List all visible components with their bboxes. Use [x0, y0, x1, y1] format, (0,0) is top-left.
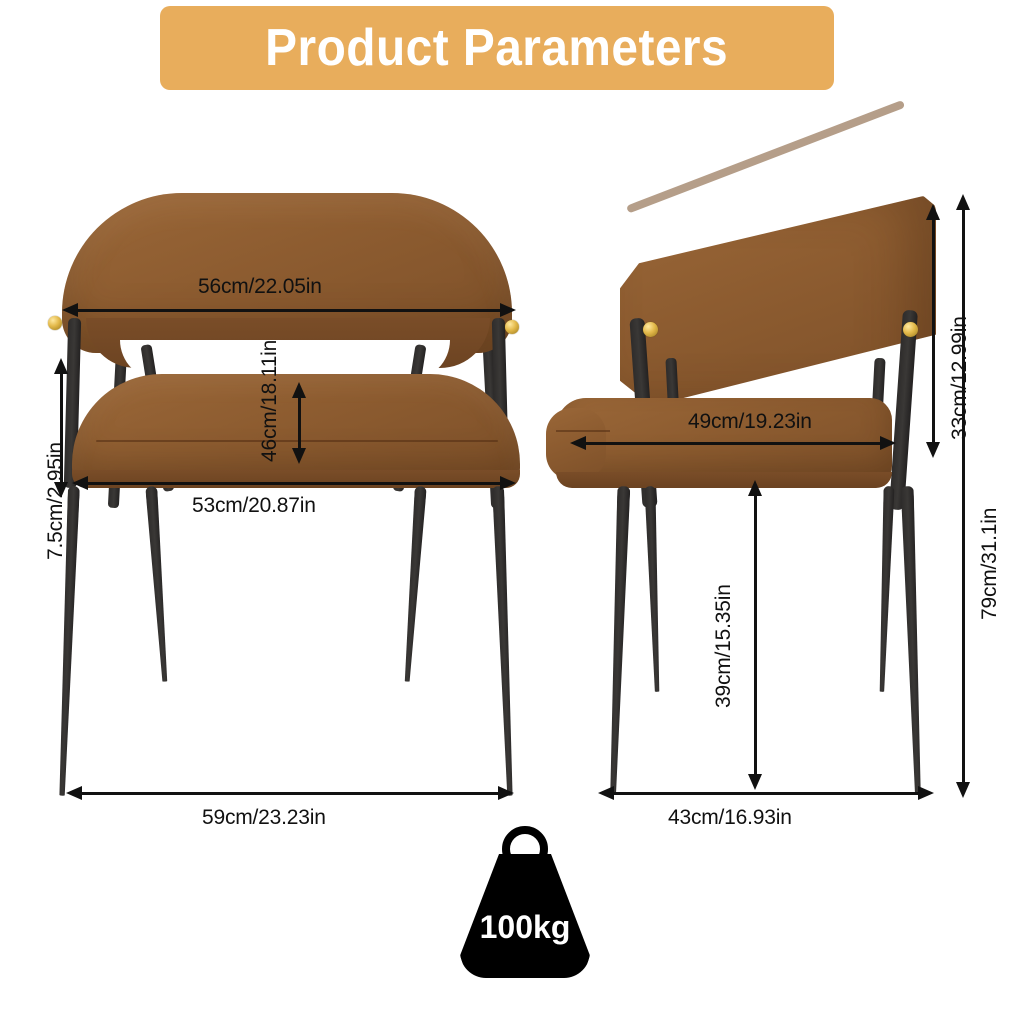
- side-seat-stitch: [556, 430, 610, 432]
- dimline-backrest-height: [932, 218, 935, 444]
- weight-capacity-label: 100kg: [480, 909, 571, 946]
- dim-overall-width: 59cm/23.23in: [202, 806, 326, 830]
- dimline-seat-depth-side: [586, 442, 880, 445]
- front-leg-inner-left: [145, 486, 171, 682]
- dim-seat-depth-side: 49cm/19.23in: [688, 410, 812, 434]
- arrowhead-seat-depth-left: [570, 436, 586, 450]
- front-seat-stitch: [96, 440, 498, 442]
- arrowhead-seat-width-left: [72, 476, 88, 490]
- arrowhead-backrest-width-right: [500, 303, 516, 317]
- dimline-seat-height: [754, 494, 757, 776]
- weight-icon: 100kg: [460, 854, 590, 978]
- rivet-front-left: [48, 316, 62, 330]
- arrowhead-overall-depth-right: [918, 786, 934, 800]
- rivet-front-right: [505, 320, 519, 334]
- side-leg-rear-inner: [876, 486, 894, 692]
- dim-backrest-height: 33cm/12.99in: [948, 316, 972, 440]
- rivet-side-rear: [903, 322, 918, 337]
- weight-capacity-badge: 100kg: [460, 826, 590, 978]
- side-leg-front-inner: [644, 486, 662, 692]
- dim-seat-depth-front: 46cm/18.11in: [258, 340, 282, 462]
- arrowhead-seatdepth-top: [292, 382, 306, 398]
- dim-seat-width: 53cm/20.87in: [192, 494, 316, 518]
- arrowhead-overall-depth-left: [598, 786, 614, 800]
- side-backrest-edge: [626, 100, 905, 214]
- dimline-seat-width: [88, 482, 500, 485]
- arrowhead-seat-depth-right: [880, 436, 896, 450]
- arrowhead-overall-height-top: [956, 194, 970, 210]
- dimline-backrest-width: [78, 309, 500, 312]
- arrowhead-seat-height-top: [748, 480, 762, 496]
- front-leg-right: [492, 486, 516, 796]
- dimline-overall-width: [82, 792, 498, 795]
- dimline-seat-depth-front: [298, 396, 301, 450]
- dimline-overall-height: [962, 208, 965, 784]
- arrowhead-overall-width-right: [498, 786, 514, 800]
- side-seat-base: [556, 472, 892, 488]
- arrowhead-gap-top: [54, 358, 68, 374]
- arrowhead-seat-width-right: [500, 476, 516, 490]
- arrowhead-backrest-width-left: [62, 303, 78, 317]
- dimline-overall-depth: [614, 792, 918, 795]
- dim-backrest-width: 56cm/22.05in: [198, 275, 322, 299]
- arrowhead-seat-height-bottom: [748, 774, 762, 790]
- side-leg-front-outer: [607, 486, 631, 794]
- dim-overall-depth: 43cm/16.93in: [668, 806, 792, 830]
- front-seat-base: [72, 470, 520, 488]
- side-leg-rear-outer: [901, 486, 925, 794]
- arrowhead-backrest-height-top: [926, 204, 940, 220]
- dim-seat-height: 39cm/15.35in: [712, 584, 736, 708]
- product-parameters-diagram: Product Parameters: [0, 0, 1024, 1024]
- page-title: Product Parameters: [266, 18, 729, 78]
- page-title-banner: Product Parameters: [160, 6, 834, 90]
- front-leg-inner-right: [401, 486, 427, 682]
- dim-backrest-seat-gap: 7.5cm/2.95in: [44, 442, 68, 560]
- arrowhead-overall-width-left: [66, 786, 82, 800]
- arrowhead-overall-height-bottom: [956, 782, 970, 798]
- arrowhead-backrest-height-bottom: [926, 442, 940, 458]
- rivet-side-front: [643, 322, 658, 337]
- arrowhead-seatdepth-bottom: [292, 448, 306, 464]
- dim-overall-height: 79cm/31.1in: [978, 508, 1002, 620]
